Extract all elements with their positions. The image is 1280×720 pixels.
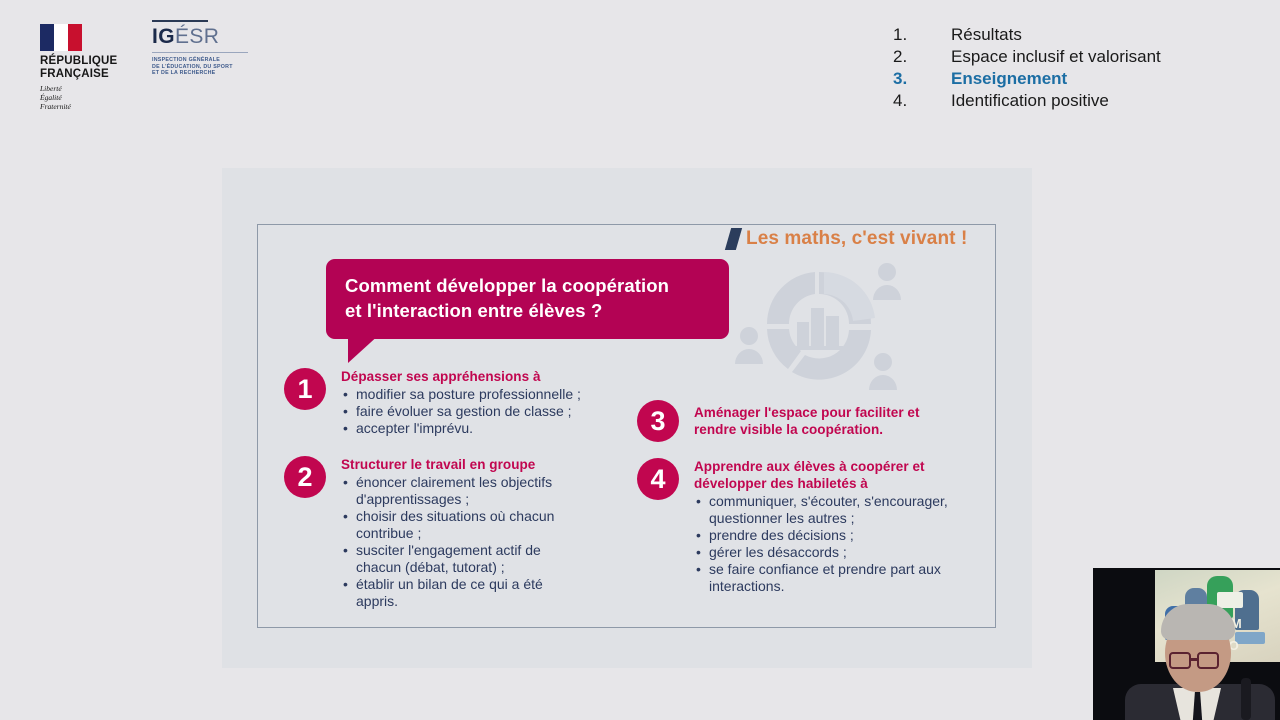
republique-line2: FRANÇAISE xyxy=(40,68,126,81)
list-item: modifier sa posture professionnelle ; xyxy=(341,386,581,403)
numbered-block-2: 2 Structurer le travail en groupe énonce… xyxy=(284,456,579,610)
block-4-list: communiquer, s'écouter, s'encourager, qu… xyxy=(694,493,966,595)
speaker-glasses-left xyxy=(1169,652,1191,669)
agenda-list: 1. Résultats 2. Espace inclusif et valor… xyxy=(893,25,1233,113)
agenda-item-3-number: 3. xyxy=(893,69,951,89)
question-bubble-line2: et l'interaction entre élèves ? xyxy=(345,298,711,323)
speaker-glasses-right xyxy=(1197,652,1219,669)
motto-egalite: Égalité xyxy=(40,93,126,102)
block-1-title: Dépasser ses appréhensions à xyxy=(341,368,581,385)
speaker-glasses-bridge xyxy=(1191,658,1197,661)
speaker-figure xyxy=(1111,596,1279,720)
question-bubble-tail xyxy=(348,333,381,363)
list-item: énoncer clairement les objectifs d'appre… xyxy=(341,474,579,508)
block-3-title: Aménager l'espace pour faciliter et rend… xyxy=(694,404,934,438)
block-1-list: modifier sa posture professionnelle ; fa… xyxy=(341,386,581,437)
motto-fraternite: Fraternité xyxy=(40,102,126,111)
block-2-title: Structurer le travail en groupe xyxy=(341,456,579,473)
agenda-item-4-label: Identification positive xyxy=(951,91,1109,111)
block-3-number-badge: 3 xyxy=(637,400,679,442)
igesr-bottom-rule xyxy=(152,52,248,53)
agenda-item-1-number: 1. xyxy=(893,25,951,45)
french-flag-icon xyxy=(40,24,82,51)
republique-logo-motto: Liberté Égalité Fraternité xyxy=(40,84,126,111)
list-item: susciter l'engagement actif de chacun (d… xyxy=(341,542,579,576)
list-item: accepter l'imprévu. xyxy=(341,420,581,437)
block-2-body: Structurer le travail en groupe énoncer … xyxy=(341,456,579,610)
list-item: communiquer, s'écouter, s'encourager, qu… xyxy=(694,493,966,527)
question-bubble-line1: Comment développer la coopération xyxy=(345,273,711,298)
slide-heading: Les maths, c'est vivant ! xyxy=(728,228,967,250)
donut-chart-people-watermark-icon xyxy=(731,252,911,407)
microphone-icon xyxy=(1241,678,1251,720)
republique-line1: RÉPUBLIQUE xyxy=(40,55,126,68)
block-2-list: énoncer clairement les objectifs d'appre… xyxy=(341,474,579,610)
agenda-item-1-label: Résultats xyxy=(951,25,1022,45)
agenda-item-1[interactable]: 1. Résultats xyxy=(893,25,1233,47)
agenda-item-3-label: Enseignement xyxy=(951,69,1067,89)
list-item: prendre des décisions ; xyxy=(694,527,966,544)
presentation-screen: RÉPUBLIQUE FRANÇAISE Liberté Égalité Fra… xyxy=(0,0,1280,720)
slide-heading-text: Les maths, c'est vivant ! xyxy=(746,228,967,250)
list-item: établir un bilan de ce qui a été appris. xyxy=(341,576,579,610)
agenda-item-2-label: Espace inclusif et valorisant xyxy=(951,47,1161,67)
numbered-block-3: 3 Aménager l'espace pour faciliter et re… xyxy=(637,400,934,442)
agenda-item-4-number: 4. xyxy=(893,91,951,111)
speaker-video-overlay[interactable]: AM EZ-VO xyxy=(1093,568,1280,720)
list-item: gérer les désaccords ; xyxy=(694,544,966,561)
list-item: se faire confiance et prendre part aux i… xyxy=(694,561,966,595)
block-1-number-badge: 1 xyxy=(284,368,326,410)
list-item: choisir des situations où chacun contrib… xyxy=(341,508,579,542)
igesr-top-rule xyxy=(152,20,208,22)
block-4-number-badge: 4 xyxy=(637,458,679,500)
list-item: faire évoluer sa gestion de classe ; xyxy=(341,403,581,420)
block-1-body: Dépasser ses appréhensions à modifier sa… xyxy=(341,368,581,437)
igesr-subtitle-line3: ET DE LA RECHERCHE xyxy=(152,70,262,77)
speaker-hair xyxy=(1161,604,1235,640)
block-4-body: Apprendre aux élèves à coopérer et dével… xyxy=(694,458,966,595)
agenda-item-4[interactable]: 4. Identification positive xyxy=(893,91,1233,113)
block-4-title: Apprendre aux élèves à coopérer et dével… xyxy=(694,458,966,492)
igesr-subtitle: INSPECTION GÉNÉRALE DE L'ÉDUCATION, DU S… xyxy=(152,57,262,77)
motto-liberte: Liberté xyxy=(40,84,126,93)
agenda-item-3[interactable]: 3. Enseignement xyxy=(893,69,1233,91)
igesr-subtitle-line2: DE L'ÉDUCATION, DU SPORT xyxy=(152,64,262,71)
igesr-acronym-bold: IG xyxy=(152,25,175,48)
igesr-subtitle-line1: INSPECTION GÉNÉRALE xyxy=(152,57,262,64)
block-2-number-badge: 2 xyxy=(284,456,326,498)
igesr-logo: IGÉSR INSPECTION GÉNÉRALE DE L'ÉDUCATION… xyxy=(152,20,262,77)
republique-francaise-logo: RÉPUBLIQUE FRANÇAISE Liberté Égalité Fra… xyxy=(40,24,126,111)
slash-icon xyxy=(725,228,742,250)
igesr-acronym: IGÉSR xyxy=(152,26,262,47)
agenda-item-2-number: 2. xyxy=(893,47,951,67)
block-3-body: Aménager l'espace pour faciliter et rend… xyxy=(694,400,934,442)
agenda-item-2[interactable]: 2. Espace inclusif et valorisant xyxy=(893,47,1233,69)
igesr-acronym-light: ÉSR xyxy=(175,25,219,48)
question-bubble: Comment développer la coopération et l'i… xyxy=(326,259,729,339)
republique-logo-name: RÉPUBLIQUE FRANÇAISE xyxy=(40,55,126,80)
numbered-block-1: 1 Dépasser ses appréhensions à modifier … xyxy=(284,368,581,437)
numbered-block-4: 4 Apprendre aux élèves à coopérer et dév… xyxy=(637,458,966,595)
